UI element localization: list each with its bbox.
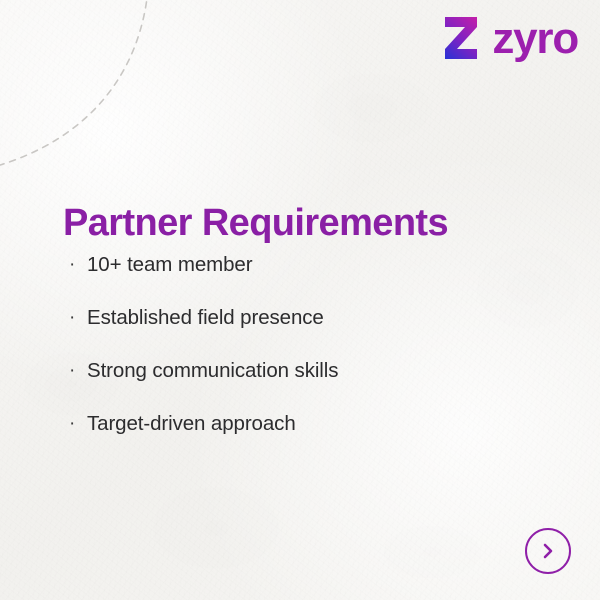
list-item-label: Strong communication skills (87, 358, 338, 384)
slide-canvas: zyro Partner Requirements · 10+ team mem… (0, 0, 600, 600)
zyro-z-mark-icon (441, 15, 481, 61)
list-item: · Established field presence (69, 305, 529, 358)
page-title: Partner Requirements (63, 203, 448, 245)
list-item-label: Target-driven approach (87, 411, 296, 437)
bullet-marker-icon: · (69, 252, 87, 278)
chevron-right-icon (540, 542, 556, 560)
brand-wordmark: zyro (492, 17, 578, 61)
bullet-marker-icon: · (69, 305, 87, 331)
list-item: · Strong communication skills (69, 358, 529, 411)
list-item-label: Established field presence (87, 305, 324, 331)
requirements-list: · 10+ team member · Established field pr… (69, 252, 529, 464)
brand-logo: zyro (441, 14, 578, 62)
bullet-marker-icon: · (69, 411, 87, 437)
next-slide-button[interactable] (525, 528, 571, 574)
bullet-marker-icon: · (69, 358, 87, 384)
list-item-label: 10+ team member (87, 252, 252, 278)
list-item: · Target-driven approach (69, 411, 529, 464)
list-item: · 10+ team member (69, 252, 529, 305)
